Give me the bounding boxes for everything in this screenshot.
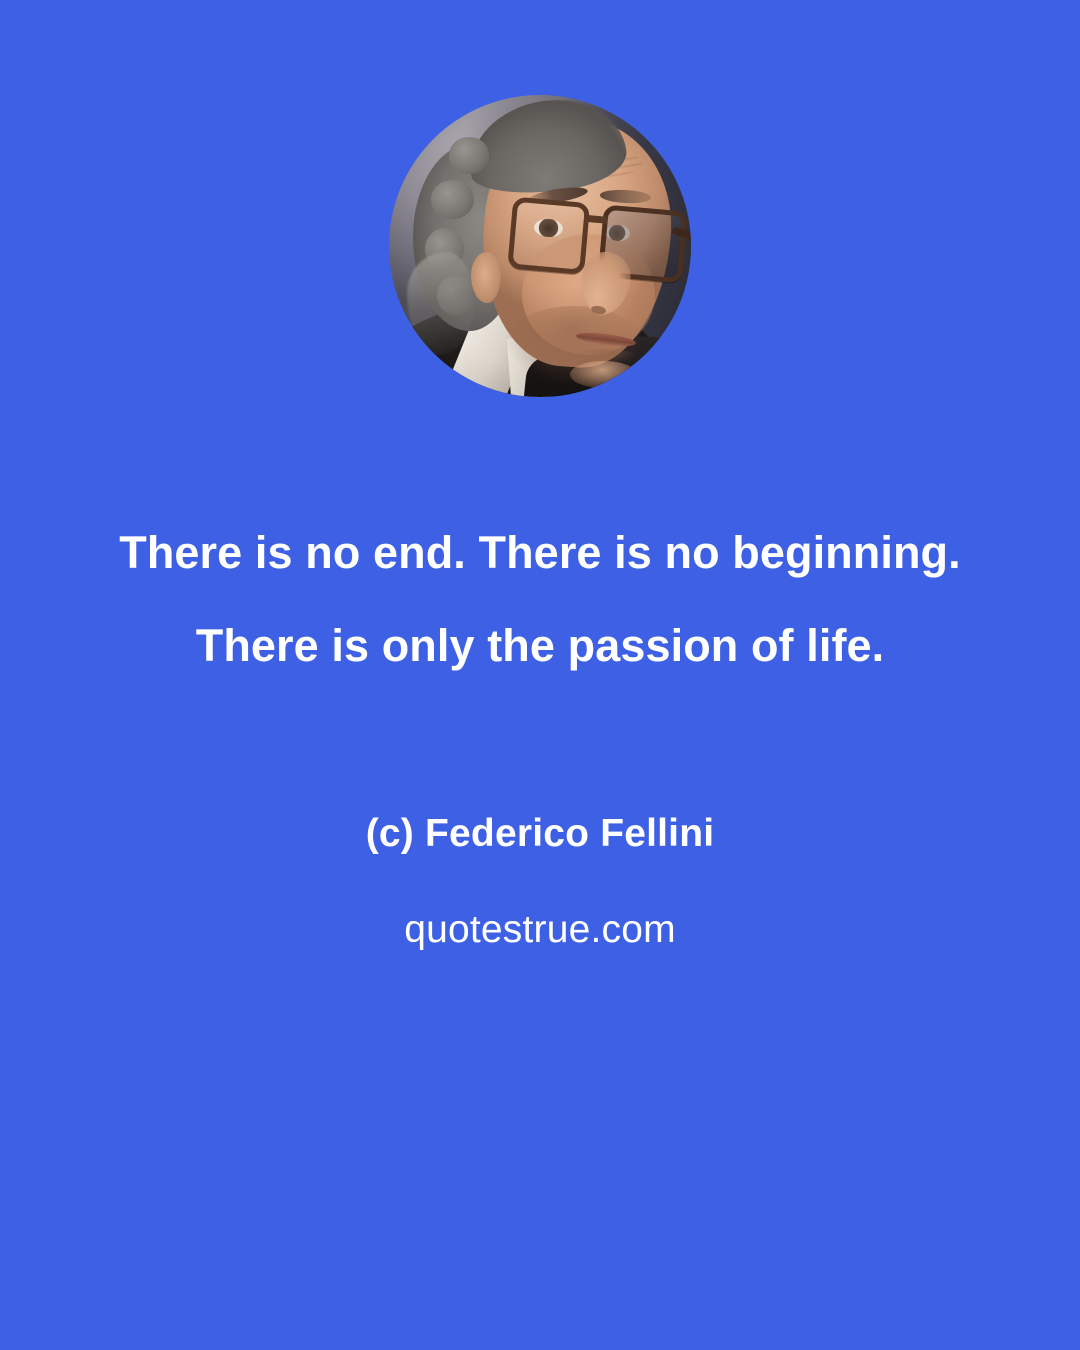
portrait-photo bbox=[389, 95, 691, 397]
chin bbox=[570, 361, 636, 388]
hair-curl bbox=[449, 137, 488, 173]
quote-attribution: (c) Federico Fellini bbox=[0, 812, 1080, 856]
hair-curl bbox=[431, 180, 473, 219]
source-website: quotestrue.com bbox=[0, 908, 1080, 952]
eyeglass-lens-left bbox=[507, 196, 590, 275]
quote-card: There is no end. There is no beginning. … bbox=[0, 0, 1080, 1350]
quote-line-2: There is only the passion of life. bbox=[50, 599, 1030, 692]
author-portrait bbox=[389, 95, 691, 397]
quote-text: There is no end. There is no beginning. … bbox=[0, 506, 1080, 692]
quote-line-1: There is no end. There is no beginning. bbox=[50, 506, 1030, 599]
